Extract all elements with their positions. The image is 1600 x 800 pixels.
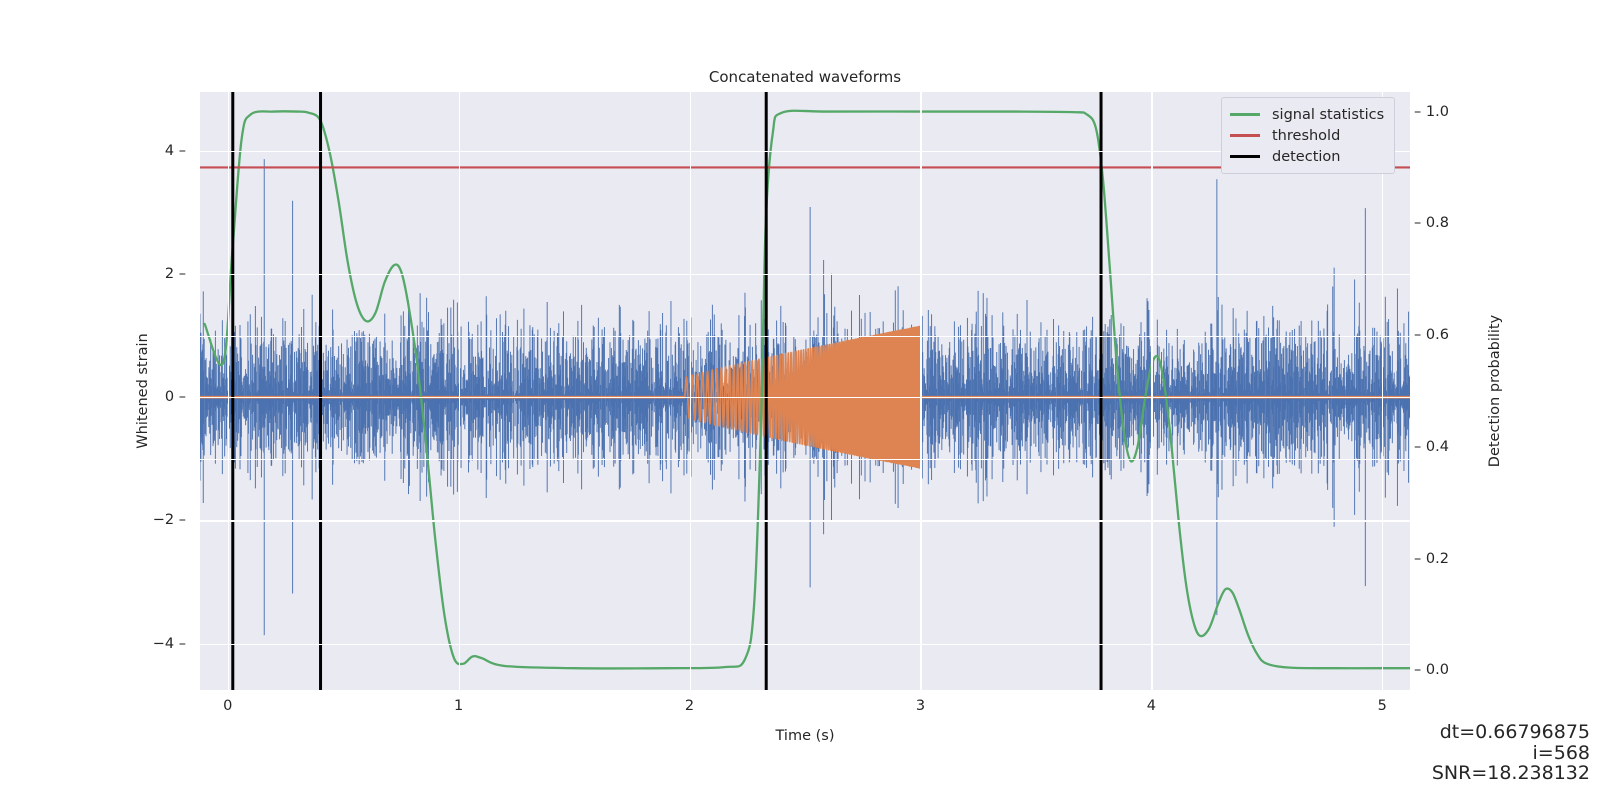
gridline-vertical xyxy=(690,92,691,690)
chart-title: Concatenated waveforms xyxy=(200,68,1410,86)
annotation-snr: SNR=18.238132 xyxy=(1432,763,1590,784)
gridline-horizontal xyxy=(200,397,1410,398)
gridline-vertical xyxy=(1382,92,1383,690)
legend-swatch xyxy=(1230,113,1260,115)
legend: signal statisticsthresholddetection xyxy=(1221,97,1395,174)
x-axis-label: Time (s) xyxy=(776,728,835,744)
legend-item: threshold xyxy=(1230,125,1384,146)
gridline-vertical xyxy=(459,92,460,690)
gridline-horizontal xyxy=(200,644,1410,645)
legend-label: detection xyxy=(1272,149,1340,165)
annotation-index: i=568 xyxy=(1432,743,1590,764)
data-canvas xyxy=(200,92,1410,690)
x-tick-label: 4 xyxy=(1147,698,1156,714)
annotation-dt: dt=0.66796875 xyxy=(1432,722,1590,743)
legend-label: threshold xyxy=(1272,128,1340,144)
y-tick-label-left: −2 – xyxy=(153,512,186,528)
gridline-horizontal xyxy=(200,274,1410,275)
gridline-vertical xyxy=(228,92,229,690)
y-tick-label-right: – 0.0 xyxy=(1414,662,1449,678)
y-tick-label-right: – 0.6 xyxy=(1414,327,1449,343)
legend-swatch xyxy=(1230,155,1260,157)
y-tick-label-left: 0 – xyxy=(165,389,186,405)
y-tick-label-right: – 1.0 xyxy=(1414,104,1449,120)
legend-label: signal statistics xyxy=(1272,107,1384,123)
gridline-vertical xyxy=(920,92,921,690)
gridline-horizontal xyxy=(200,336,1410,337)
y-tick-label-right: – 0.2 xyxy=(1414,551,1449,567)
gridline-horizontal xyxy=(200,459,1410,460)
y-axis-left-label: Whitened strain xyxy=(135,333,151,448)
legend-item: detection xyxy=(1230,146,1384,167)
legend-item: signal statistics xyxy=(1230,104,1384,125)
y-tick-label-left: 2 – xyxy=(165,266,186,282)
x-tick-label: 5 xyxy=(1378,698,1387,714)
annotation-block: dt=0.66796875 i=568 SNR=18.238132 xyxy=(1432,722,1590,784)
figure: Concatenated waveforms 4 –2 –0 –−2 –−4 –… xyxy=(0,0,1600,800)
y-tick-label-left: 4 – xyxy=(165,143,186,159)
gridline-horizontal xyxy=(200,520,1410,521)
x-tick-label: 2 xyxy=(685,698,694,714)
y-tick-label-right: – 0.8 xyxy=(1414,215,1449,231)
x-tick-label: 0 xyxy=(223,698,232,714)
plot-area xyxy=(200,92,1410,690)
gridline-vertical xyxy=(1151,92,1152,690)
y-tick-label-left: −4 – xyxy=(153,636,186,652)
x-tick-label: 1 xyxy=(454,698,463,714)
y-axis-right-label: Detection probability xyxy=(1487,315,1503,467)
x-tick-label: 3 xyxy=(916,698,925,714)
y-tick-label-right: – 0.4 xyxy=(1414,439,1449,455)
legend-swatch xyxy=(1230,134,1260,136)
